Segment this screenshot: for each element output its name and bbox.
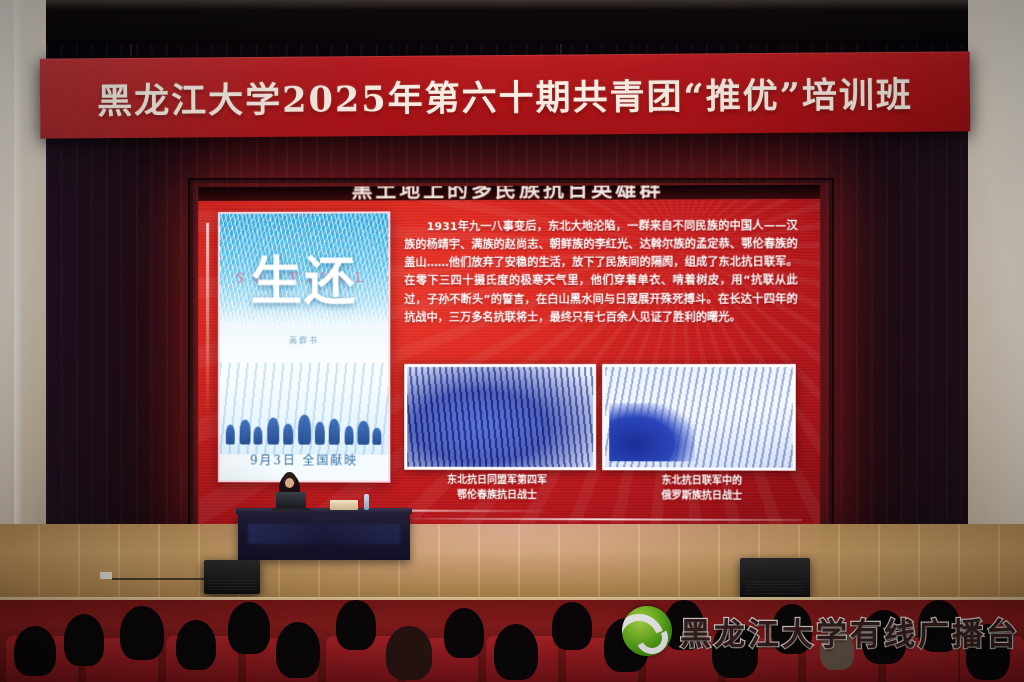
caption-right-line2: 俄罗斯族抗日战士 <box>608 489 796 504</box>
laptop-icon <box>276 492 306 510</box>
water-bottle <box>364 494 369 510</box>
auditorium-photo: 黑龙江大学2025年第六十期共青团“推优”培训班 黑土地上的多民族抗日英雄群 S… <box>0 0 1024 682</box>
caption-left-line2: 鄂伦春族抗日战士 <box>404 488 590 503</box>
presenter-table-skirt <box>238 512 410 560</box>
audience-head <box>276 622 320 678</box>
poster-credit: 高群书 <box>220 335 388 346</box>
photo-caption-row: 东北抗日同盟军第四军 鄂伦春族抗日战士 东北抗日联军中的 俄罗斯族抗日战士 <box>404 474 795 513</box>
historical-photo-row <box>404 364 795 473</box>
audience-head <box>444 608 484 658</box>
slide-decor-line-1 <box>396 518 803 521</box>
floor-power-box <box>100 572 112 579</box>
audience-head <box>120 606 164 660</box>
banner-hook-left <box>130 44 132 57</box>
audience-head <box>14 626 56 676</box>
curtain-fold-left <box>46 130 196 550</box>
poster-title-cn: 生还 <box>220 239 388 314</box>
historical-photo-left <box>404 364 596 470</box>
audience-head <box>336 600 376 650</box>
watermark-text: 黑龙江大学有线广播台 <box>680 609 1020 654</box>
audience-head <box>228 602 270 654</box>
nameplate <box>330 500 358 510</box>
audience-head <box>64 614 104 666</box>
audience-head <box>386 626 432 680</box>
right-wall <box>968 0 1024 604</box>
broadcast-watermark: 黑龙江大学有线广播台 <box>622 606 1020 656</box>
floor-cable <box>112 578 208 580</box>
green-swirl-globe-icon <box>622 606 672 656</box>
event-banner: 黑龙江大学2025年第六十期共青团“推优”培训班 <box>40 51 971 138</box>
audience-head <box>176 620 216 670</box>
slide-title-text: 黑土地上的多民族抗日英雄群 <box>352 185 664 204</box>
audience-head <box>494 624 538 680</box>
poster-release-date: 9月3日 全国献映 <box>220 451 388 468</box>
poster-figures <box>220 379 388 451</box>
caption-right-line1: 东北抗日联军中的 <box>608 474 796 489</box>
presenter-table-top <box>236 508 412 514</box>
caption-left-line1: 东北抗日同盟军第四军 <box>404 474 590 489</box>
slide-title: 黑土地上的多民族抗日英雄群 <box>198 185 820 213</box>
movie-poster: SURVIVAL 生还 高群书 9月3日 全国献映 <box>218 211 390 482</box>
ceiling-strip <box>46 0 968 44</box>
historical-photo-right <box>602 364 796 471</box>
slide-corner-accent <box>206 223 209 418</box>
photo-caption-right: 东北抗日联军中的 俄罗斯族抗日战士 <box>608 474 796 513</box>
photo-caption-left: 东北抗日同盟军第四军 鄂伦春族抗日战士 <box>404 474 590 513</box>
stage-monitor-left <box>204 560 260 594</box>
slide-text-block: 1931年九一八事变后，东北大地沦陷，一群来自不同民族的中国人——汉族的杨靖宇、… <box>404 217 798 327</box>
audience-head <box>552 602 592 650</box>
curtain-fold-right <box>798 130 968 550</box>
presenter-face <box>285 478 294 488</box>
banner-title: 黑龙江大学2025年第六十期共青团“推优”培训班 <box>97 66 913 123</box>
stage-monitor-right <box>740 558 810 598</box>
slide-paragraph: 1931年九一八事变后，东北大地沦陷，一群来自不同民族的中国人——汉族的杨靖宇、… <box>404 217 798 327</box>
